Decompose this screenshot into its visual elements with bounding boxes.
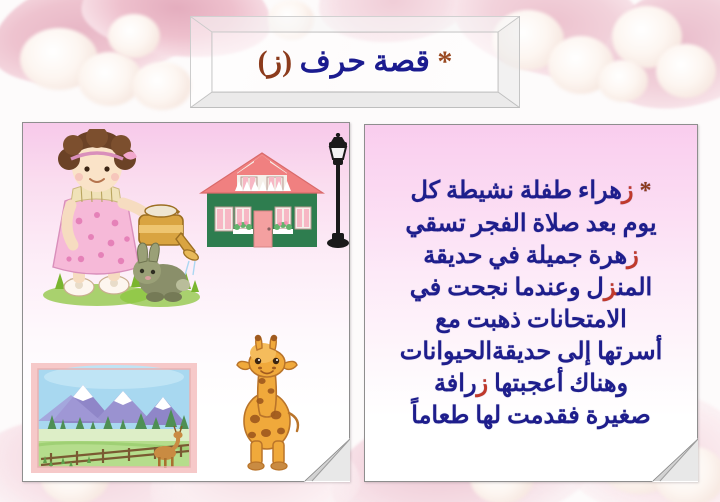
title-letter-zay: ز: [268, 45, 283, 78]
story-text-run: وهناك أعجبتها: [488, 371, 628, 397]
girl-watering-icon: [35, 129, 203, 307]
illustrations-panel: [22, 122, 350, 482]
girl-watering-illustration: [35, 129, 203, 307]
story-line: الامتحانات ذهبت مع: [435, 304, 627, 336]
street-lamp-icon: [323, 133, 349, 249]
illustrations-panel-background: [23, 123, 349, 481]
highlighted-letter-zay: ز: [477, 371, 489, 397]
story-text-run: هرة جميلة في حديقة: [423, 243, 627, 269]
story-text-run: ل وعندما نجحت في: [410, 275, 604, 301]
story-text-run: الامتحانات ذهبت مع: [435, 307, 627, 333]
story-line: أسرتها إلى حديقةالحيوانات: [400, 336, 663, 368]
story-line: وهناك أعجبتها زرافة: [434, 368, 628, 400]
story-text-panel: * زهراء طفلة نشيطة كليوم بعد صلاة الفجر …: [364, 124, 698, 482]
story-text-run: هراء طفلة نشيطة كل: [411, 178, 622, 204]
highlighted-letter-zay: ز: [627, 243, 639, 269]
background-blossom: [132, 62, 192, 110]
story-text-run: صغيرة فقدمت لها طعاماً: [411, 403, 651, 429]
background-blossom: [598, 60, 648, 102]
story-bullet-star: *: [640, 178, 652, 204]
house-illustration: [199, 133, 325, 255]
highlighted-letter-zay: ز: [604, 275, 617, 301]
title-word-letter: حرف: [300, 45, 366, 78]
background-blossom: [656, 44, 716, 98]
title-star: *: [437, 45, 452, 78]
title-close-paren: ): [258, 45, 268, 78]
highlighted-letter-zay: ز: [622, 178, 634, 204]
page-title: * قصة حرف (ز): [258, 47, 453, 77]
giraffe-icon: [219, 323, 315, 471]
story-line: صغيرة فقدمت لها طعاماً: [411, 400, 651, 432]
story-text-run: المن: [617, 275, 652, 301]
title-word-story: قصة: [373, 45, 429, 78]
story-line: المنزل وعندما نجحت في: [410, 272, 652, 304]
background-blossom: [108, 14, 160, 58]
slide-canvas: * قصة حرف (ز): [0, 0, 720, 502]
landscape-illustration: [31, 363, 197, 473]
title-plaque: * قصة حرف (ز): [190, 16, 520, 108]
mountain-landscape-icon: [31, 363, 197, 473]
story-text-run: رافة: [434, 371, 477, 397]
title-inner-frame: * قصة حرف (ز): [212, 32, 498, 92]
story-text-run: يوم بعد صلاة الفجر تسقي: [405, 211, 656, 237]
story-line: زهرة جميلة في حديقة: [423, 240, 638, 272]
title-open-paren: (: [282, 45, 292, 78]
street-lamp-illustration: [323, 133, 349, 249]
story-panel-background: * زهراء طفلة نشيطة كليوم بعد صلاة الفجر …: [365, 125, 697, 481]
house-icon: [199, 133, 325, 255]
story-line: * زهراء طفلة نشيطة كل: [411, 175, 652, 207]
story-text-run: أسرتها إلى حديقةالحيوانات: [400, 339, 663, 365]
giraffe-illustration: [219, 323, 315, 471]
story-text: * زهراء طفلة نشيطة كليوم بعد صلاة الفجر …: [365, 125, 697, 481]
story-line: يوم بعد صلاة الفجر تسقي: [405, 208, 656, 240]
